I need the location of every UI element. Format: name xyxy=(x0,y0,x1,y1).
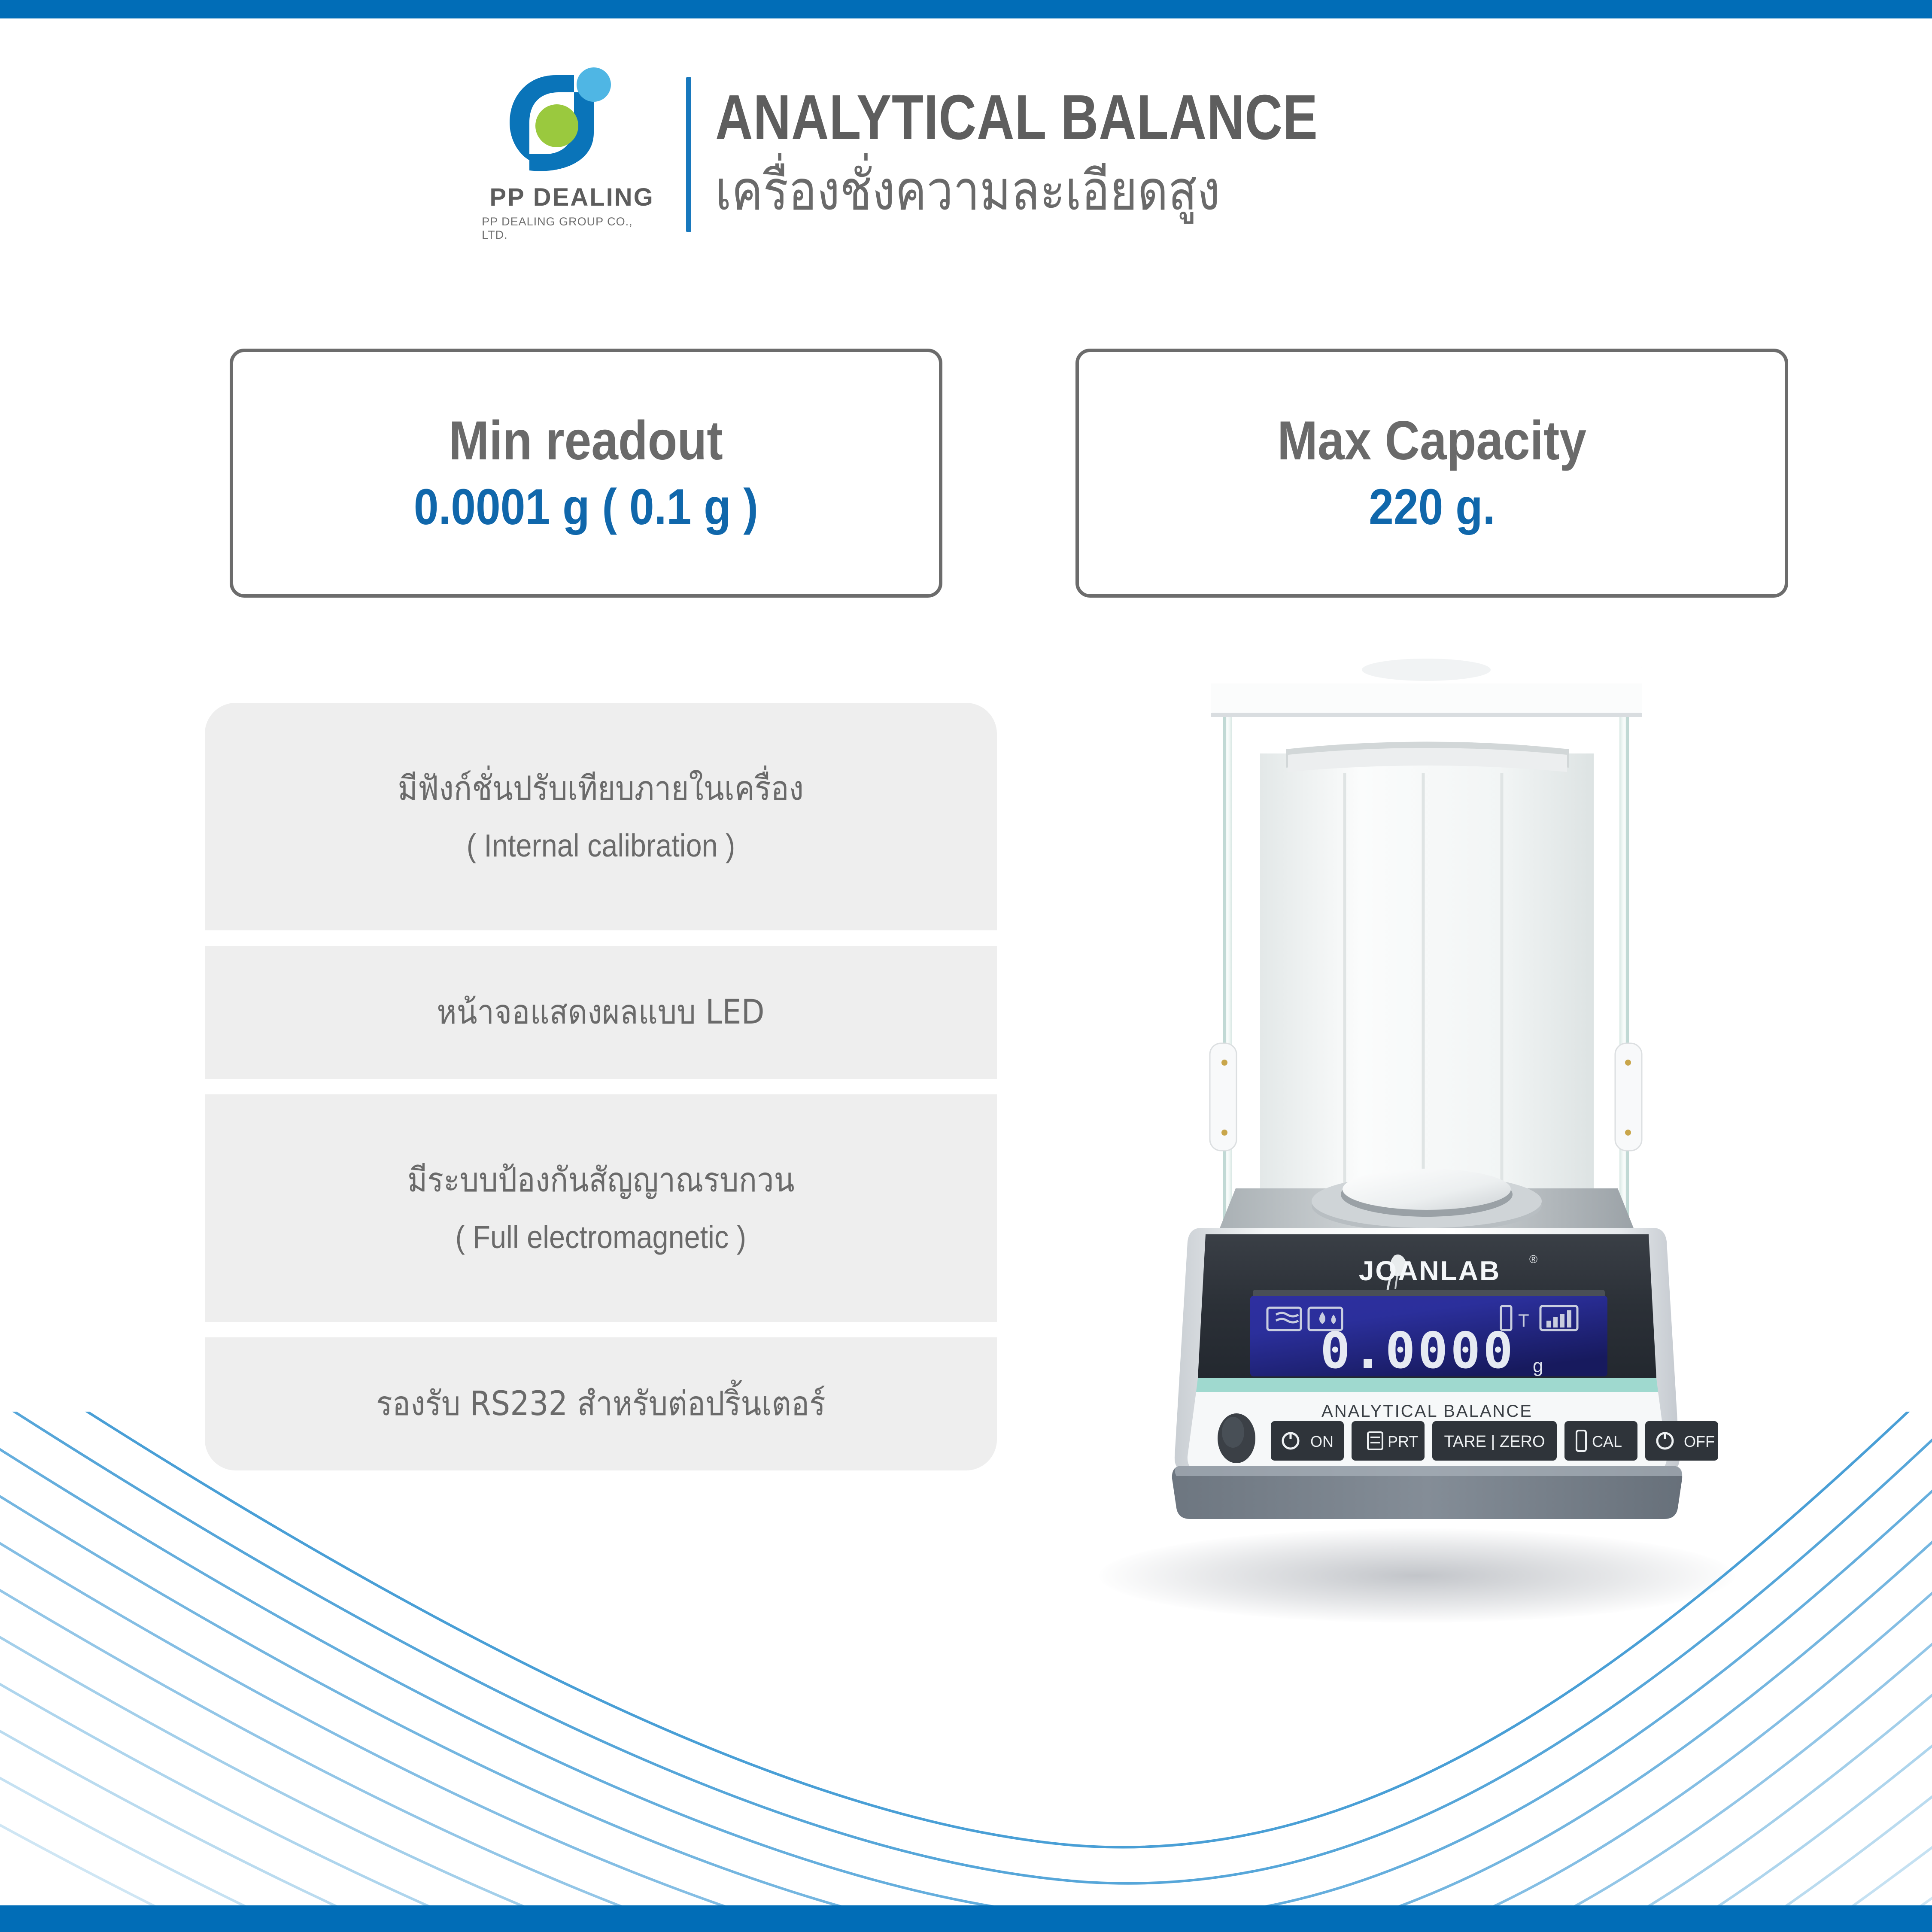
svg-text:PRT: PRT xyxy=(1388,1433,1418,1450)
spec-value: 220 g. xyxy=(1369,481,1495,534)
key-off: OFF xyxy=(1645,1421,1718,1461)
lcd-unit: g xyxy=(1533,1355,1543,1376)
spec-label: Max Capacity xyxy=(1277,412,1586,470)
list-item: รองรับ RS232 สำหรับต่อปริ้นเตอร์ xyxy=(205,1337,997,1470)
product-infographic: PP DEALING PP DEALING GROUP CO., LTD. AN… xyxy=(0,0,1932,1932)
feature-text-th: มีฟังก์ชั่นปรับเทียบภายในเครื่อง xyxy=(398,764,804,814)
list-item: หน้าจอแสดงผลแบบ LED xyxy=(205,946,997,1079)
product-brand-mark: JOANLAB xyxy=(1359,1255,1501,1286)
bottom-brand-bar xyxy=(0,1905,1932,1932)
list-item: มีฟังก์ชั่นปรับเทียบภายในเครื่อง ( Inter… xyxy=(205,703,997,930)
header-title-block: ANALYTICAL BALANCE เครื่องชั่งความละเอีย… xyxy=(715,85,1450,224)
feature-text-th: รองรับ RS232 สำหรับต่อปริ้นเตอร์ xyxy=(376,1379,826,1429)
feature-text-en: ( Internal calibration ) xyxy=(467,822,735,869)
header-divider xyxy=(686,77,691,232)
spec-card-min-readout: Min readout 0.0001 g ( 0.1 g ) xyxy=(230,349,942,598)
feature-text-th: มีระบบป้องกันสัญญาณรบกวน xyxy=(407,1155,795,1206)
page-title-en: ANALYTICAL BALANCE xyxy=(715,85,1318,150)
spec-value: 0.0001 g ( 0.1 g ) xyxy=(414,481,758,534)
lcd-value: 0.0000 xyxy=(1320,1322,1516,1380)
spec-cards: Min readout 0.0001 g ( 0.1 g ) Max Capac… xyxy=(230,349,1788,598)
feature-text-en: ( Full electromagnetic ) xyxy=(456,1213,746,1261)
pp-dealing-logo-icon xyxy=(505,67,638,177)
analytical-balance-photo: JOANLAB ® T 0.0000 xyxy=(1091,657,1760,1580)
company-logo: PP DEALING PP DEALING GROUP CO., LTD. xyxy=(482,67,662,242)
logo-legal-name: PP DEALING GROUP CO., LTD. xyxy=(482,215,662,242)
svg-text:CAL: CAL xyxy=(1592,1433,1622,1450)
top-brand-bar xyxy=(0,0,1932,18)
logo-wordmark: PP DEALING xyxy=(489,183,654,212)
feature-text-th: หน้าจอแสดงผลแบบ LED xyxy=(437,987,765,1038)
header: PP DEALING PP DEALING GROUP CO., LTD. AN… xyxy=(0,64,1932,245)
tare-indicator-label: T xyxy=(1518,1310,1529,1331)
spec-card-max-capacity: Max Capacity 220 g. xyxy=(1075,349,1788,598)
panel-caption: ANALYTICAL BALANCE xyxy=(1321,1402,1533,1421)
feature-list: มีฟังก์ชั่นปรับเทียบภายในเครื่อง ( Inter… xyxy=(205,703,997,1470)
svg-text:ON: ON xyxy=(1310,1433,1334,1450)
page-title-th: เครื่องชั่งความละเอียดสูง xyxy=(715,158,1347,224)
spec-label: Min readout xyxy=(449,412,723,470)
svg-text:TARE | ZERO: TARE | ZERO xyxy=(1444,1433,1545,1451)
keypad: ON PRT TARE | ZERO CAL xyxy=(1271,1421,1637,1461)
svg-text:OFF: OFF xyxy=(1684,1433,1715,1450)
list-item: มีระบบป้องกันสัญญาณรบกวน ( Full electrom… xyxy=(205,1094,997,1322)
svg-text:®: ® xyxy=(1529,1253,1537,1266)
